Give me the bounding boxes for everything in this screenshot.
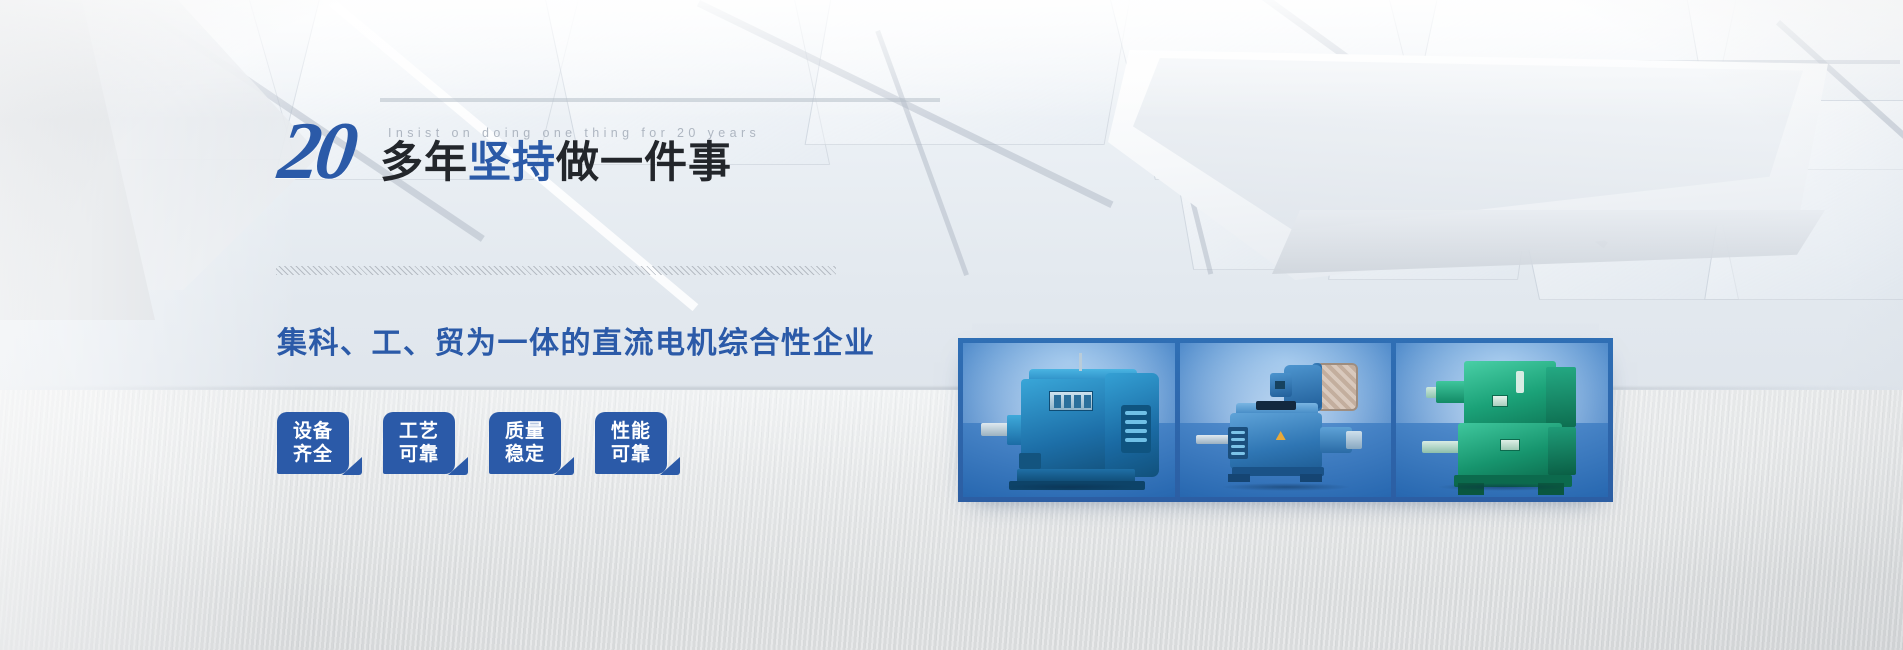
headline-block: 20 Insist on doing one thing for 20 year… — [276, 112, 916, 198]
tag-line-1: 设备 — [293, 420, 333, 443]
tag-line-1: 质量 — [505, 420, 545, 443]
motor-foot — [1300, 474, 1322, 482]
headline-prefix: 多年 — [380, 139, 468, 187]
blower-motor-box — [1270, 373, 1292, 397]
machine-shaft — [1422, 441, 1462, 453]
blue-dc-motor-illustration — [963, 343, 1175, 497]
tag-line-1: 性能 — [611, 420, 651, 443]
machine-upper-body — [1464, 361, 1556, 427]
shaft-coupling-end — [1346, 431, 1362, 449]
product-shadow — [1003, 483, 1134, 491]
feature-tag-craft[interactable]: 工艺 可靠 — [383, 412, 455, 474]
shaft-housing — [1436, 381, 1466, 403]
feature-tag-list: 设备 齐全 工艺 可靠 质量 稳定 性能 可靠 — [277, 412, 667, 474]
english-tagline: Insist on doing one thing for 20 years — [388, 126, 760, 140]
feature-tag-performance[interactable]: 性能 可靠 — [595, 412, 667, 474]
headline-highlight: 坚持 — [468, 139, 556, 187]
green-dc-machine-illustration — [1396, 343, 1608, 497]
motor-nameplate — [1049, 391, 1093, 411]
tag-line-1: 工艺 — [399, 420, 439, 443]
feature-tag-quality[interactable]: 质量 稳定 — [489, 412, 561, 474]
motor-terminal-box — [1019, 453, 1041, 469]
headline-chinese: 多年坚持做一件事 — [380, 142, 732, 185]
motor-vent-grille — [1228, 427, 1248, 459]
tag-line-2: 齐全 — [293, 443, 333, 466]
machine-lower-side — [1548, 427, 1576, 475]
hero-banner: 20 Insist on doing one thing for 20 year… — [0, 0, 1903, 650]
headline-suffix: 做一件事 — [556, 139, 732, 187]
motor-lifting-hook — [1079, 353, 1082, 371]
headline-row: 20 Insist on doing one thing for 20 year… — [276, 112, 916, 198]
motor-top-panel — [1256, 401, 1296, 410]
machine-nameplate — [1492, 395, 1508, 407]
product-cell-blue-dc-motor[interactable] — [963, 343, 1175, 497]
ceiling-rail — [380, 98, 940, 102]
product-cell-green-machine[interactable] — [1396, 343, 1608, 497]
feature-tag-equipment[interactable]: 设备 齐全 — [277, 412, 349, 474]
product-cell-blower-motor[interactable] — [1180, 343, 1392, 497]
years-number: 20 — [274, 110, 358, 192]
product-shadow — [1220, 483, 1351, 491]
motor-vent-grille — [1121, 405, 1151, 453]
blower-motor-illustration — [1180, 343, 1392, 497]
hatched-divider — [276, 266, 836, 275]
tag-line-2: 可靠 — [611, 443, 651, 466]
tag-line-2: 可靠 — [399, 443, 439, 466]
air-filter-cartridge — [1316, 363, 1358, 411]
machine-terminal-plate — [1500, 439, 1520, 451]
machine-inspection-slot — [1516, 371, 1524, 393]
tag-line-2: 稳定 — [505, 443, 545, 466]
product-showcase-panel — [958, 338, 1613, 502]
product-cell-row — [963, 343, 1608, 497]
subtitle: 集科、工、贸为一体的直流电机综合性企业 — [277, 318, 876, 362]
motor-foot — [1228, 474, 1250, 482]
product-shadow — [1437, 483, 1568, 491]
machine-upper-side — [1546, 367, 1576, 427]
